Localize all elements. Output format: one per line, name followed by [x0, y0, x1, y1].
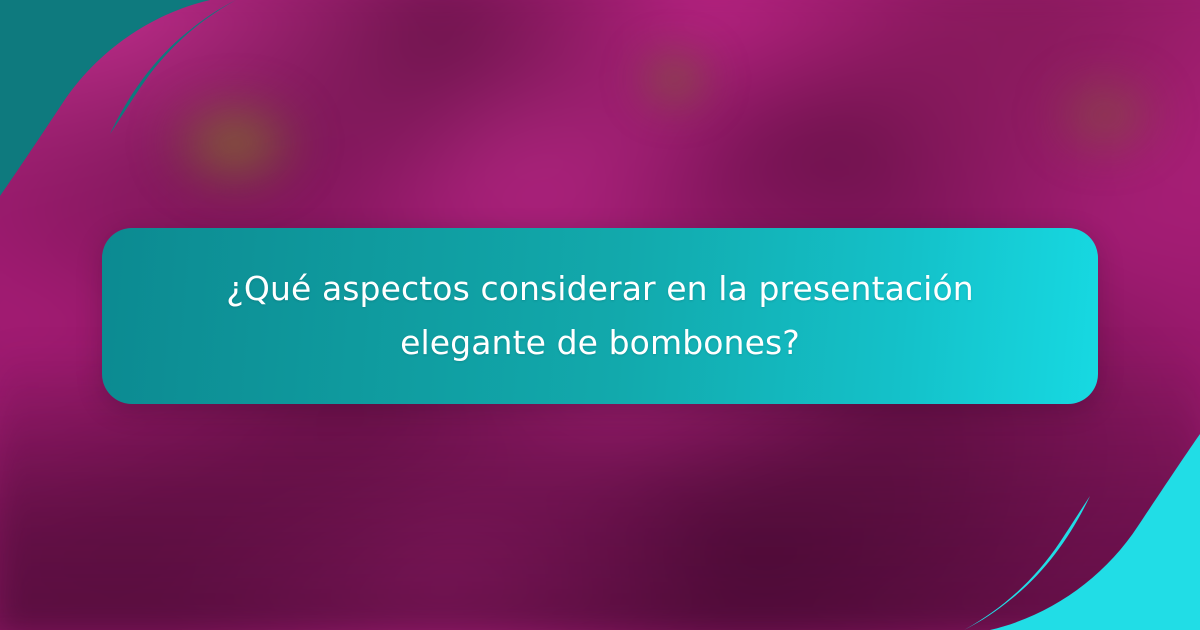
background-green-blob-left — [140, 78, 330, 208]
background-green-blob-right — [1030, 60, 1180, 170]
background-green-blob-center — [620, 34, 730, 124]
question-card: ¿Qué aspectos considerar en la presentac… — [102, 228, 1098, 404]
share-card-canvas: ¿Qué aspectos considerar en la presentac… — [0, 0, 1200, 630]
question-text: ¿Qué aspectos considerar en la presentac… — [200, 262, 1000, 370]
